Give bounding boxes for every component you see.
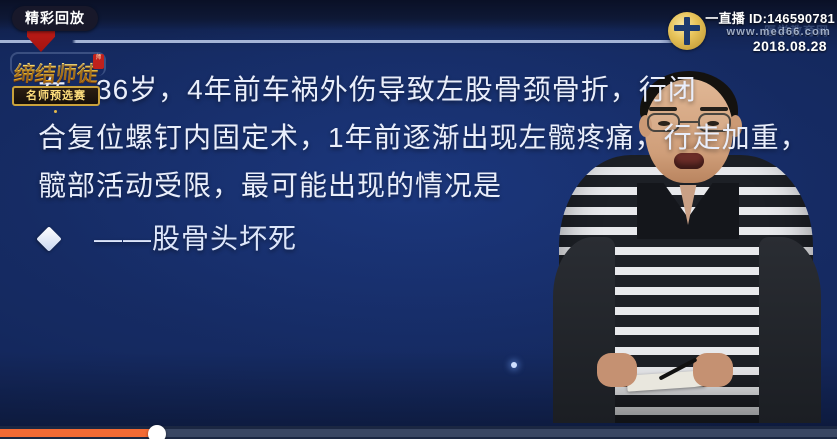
question-line-3: 髋部活动受限，最可能出现的情况是: [38, 162, 837, 210]
video-player-stage: 女，36岁，4年前车祸外伤导致左股骨颈骨折，行闭 合复位螺钉内固定术，1年前逐渐…: [0, 0, 837, 439]
site-watermark: www.med66.com: [727, 26, 831, 38]
logo-dot-ornament: [54, 110, 57, 113]
presenter-right-hand: [693, 353, 733, 387]
slide-divider-line: [0, 40, 837, 43]
live-id-watermark: 一直播 ID:146590781: [705, 8, 835, 28]
diamond-bullet-icon: [36, 226, 61, 251]
presenter-right-arm: [759, 237, 821, 423]
shield-logo-icon: [668, 12, 706, 50]
presenter-left-arm: [553, 237, 615, 423]
slide-answer-row: ——股骨头坏死: [40, 222, 297, 256]
date-watermark: 2018.08.28: [753, 38, 827, 54]
contest-logo-subtitle: 名师预选赛: [12, 86, 100, 106]
question-line-2: 合复位螺钉内固定术，1年前逐渐出现左髋疼痛，行走加重，: [38, 114, 837, 162]
cursor-pointer-dot: [511, 362, 517, 368]
answer-text: ——股骨头坏死: [94, 222, 297, 256]
progress-bar[interactable]: [0, 426, 837, 439]
contest-logo: 缔结师徒 师 名师预选赛: [4, 52, 108, 114]
slide-question-text: 女，36岁，4年前车祸外伤导致左股骨颈骨折，行闭 合复位螺钉内固定术，1年前逐渐…: [38, 66, 837, 210]
progress-fill: [0, 429, 158, 437]
contest-logo-seal: 师: [93, 54, 104, 69]
presenter-left-hand: [597, 353, 637, 387]
question-line-1: 女，36岁，4年前车祸外伤导致左股骨颈骨折，行闭: [38, 66, 837, 114]
progress-handle[interactable]: [148, 425, 166, 439]
replay-badge: 精彩回放: [12, 6, 98, 31]
live-id-text: 一直播 ID:146590781: [705, 8, 835, 27]
